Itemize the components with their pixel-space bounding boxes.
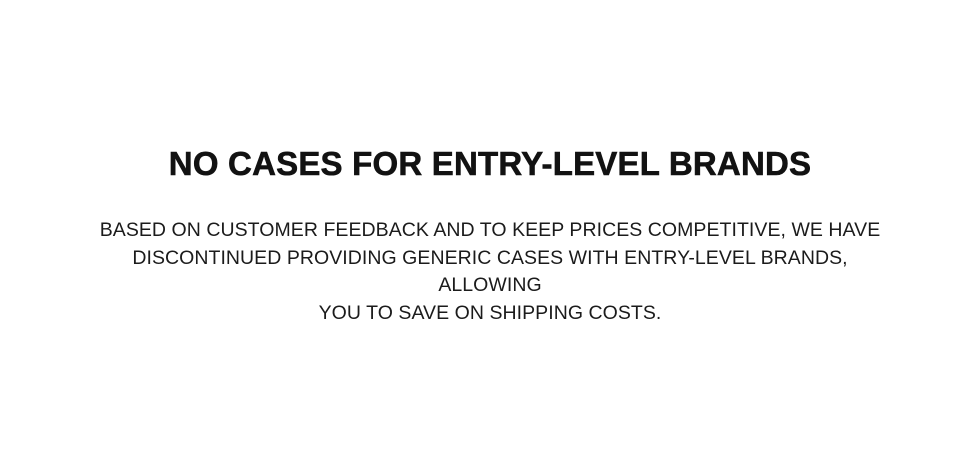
notice-body-line-3: YOU TO SAVE ON SHIPPING COSTS.	[90, 300, 890, 328]
notice-body-line-1: BASED ON CUSTOMER FEEDBACK AND TO KEEP P…	[90, 217, 890, 245]
notice-body-text: BASED ON CUSTOMER FEEDBACK AND TO KEEP P…	[90, 217, 890, 328]
notice-body-line-2: DISCONTINUED PROVIDING GENERIC CASES WIT…	[90, 245, 890, 300]
page-title: NO CASES FOR ENTRY-LEVEL BRANDS	[60, 146, 920, 183]
promo-notice-panel: NO CASES FOR ENTRY-LEVEL BRANDS BASED ON…	[0, 0, 980, 450]
